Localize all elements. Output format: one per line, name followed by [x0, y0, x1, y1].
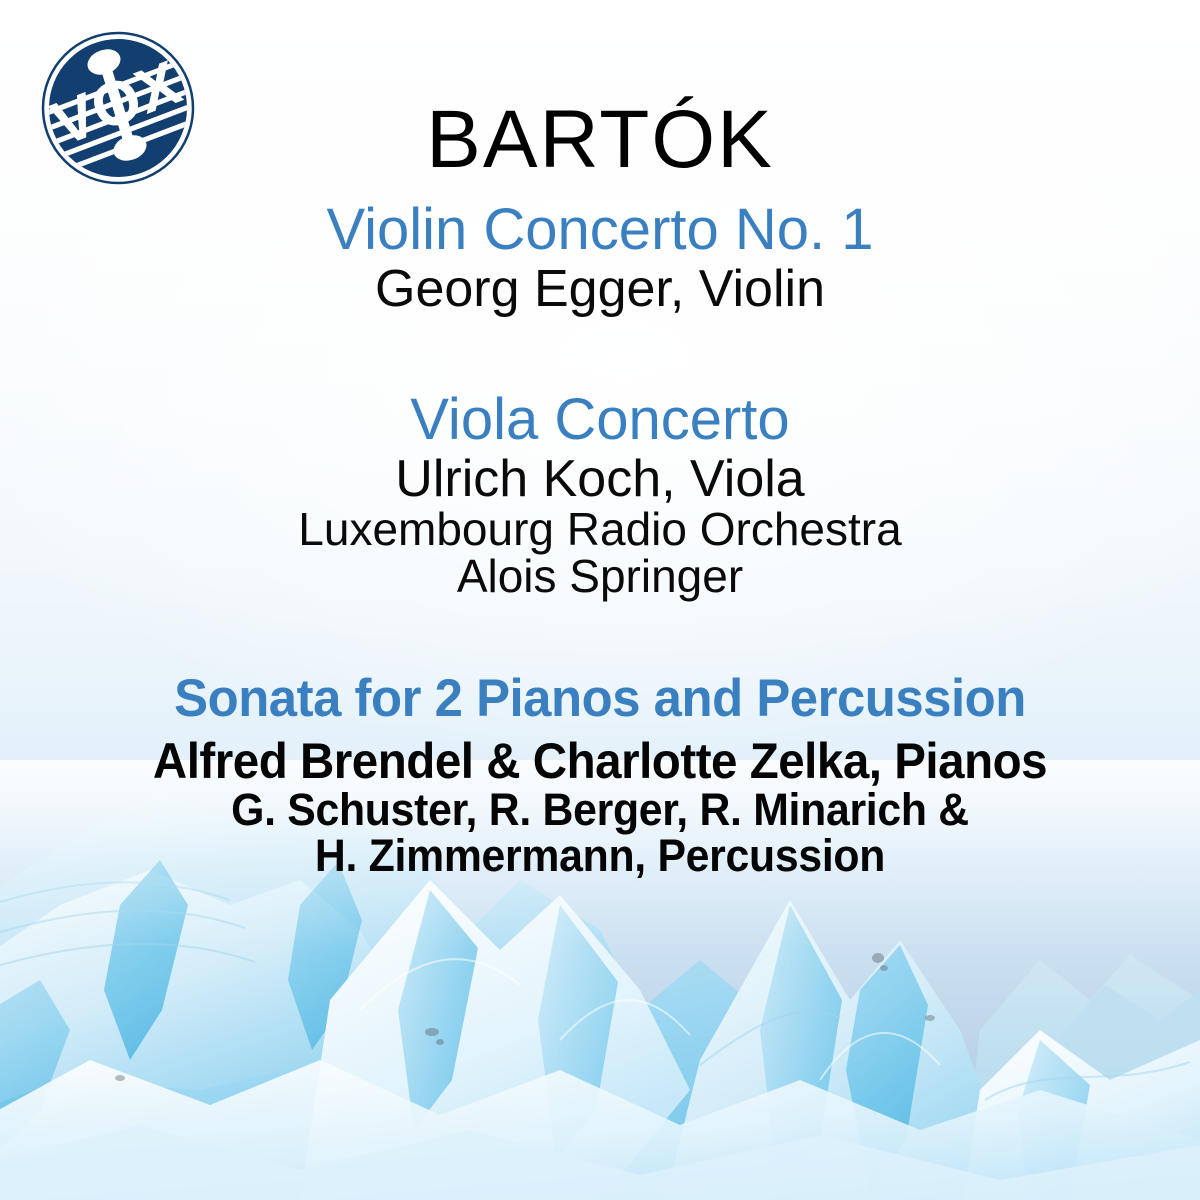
performer-brendel-zelka: Alfred Brendel & Charlotte Zelka, Pianos: [30, 736, 1170, 787]
work-block-viola-concerto: Viola Concerto Ulrich Koch, Viola Luxemb…: [0, 390, 1200, 600]
performer-luxembourg-radio-orchestra: Luxembourg Radio Orchestra: [0, 506, 1200, 553]
performer-alois-springer: Alois Springer: [0, 553, 1200, 600]
performer-percussion-line-1: G. Schuster, R. Berger, R. Minarich &: [30, 787, 1170, 833]
performer-georg-egger: Georg Egger, Violin: [0, 263, 1200, 316]
composer-name: BARTÓK: [0, 98, 1200, 182]
work-title-viola-concerto: Viola Concerto: [0, 390, 1200, 449]
work-title-sonata: Sonata for 2 Pianos and Percussion: [24, 672, 1176, 726]
performer-percussion-line-2: H. Zimmermann, Percussion: [30, 833, 1170, 879]
work-title-violin-concerto: Violin Concerto No. 1: [0, 200, 1200, 259]
performer-ulrich-koch: Ulrich Koch, Viola: [0, 453, 1200, 506]
album-cover: VOX BARTÓK Violin Concerto No. 1 Georg E…: [0, 0, 1200, 1200]
work-block-violin-concerto: Violin Concerto No. 1 Georg Egger, Violi…: [0, 200, 1200, 316]
cover-text-stack: BARTÓK Violin Concerto No. 1 Georg Egger…: [0, 0, 1200, 879]
work-block-sonata: Sonata for 2 Pianos and Percussion Alfre…: [0, 672, 1200, 879]
